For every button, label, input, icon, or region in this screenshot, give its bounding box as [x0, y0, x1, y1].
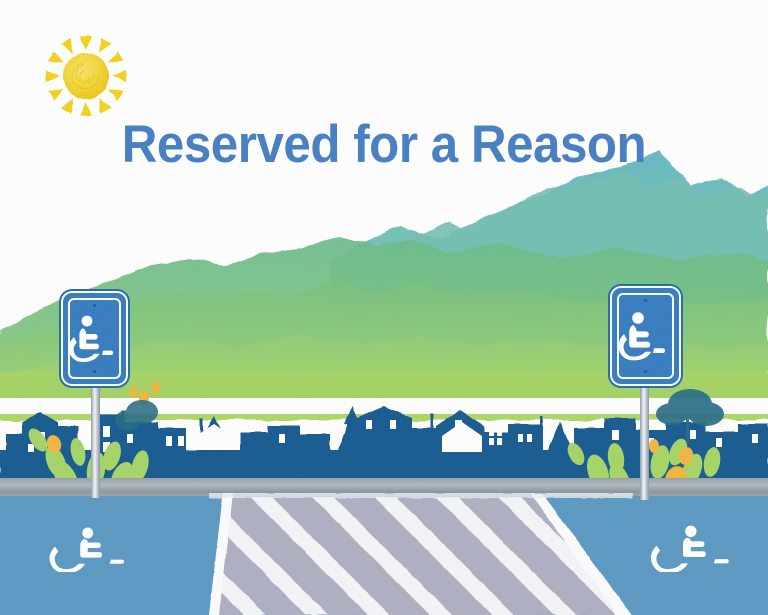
- sign-panel-left[interactable]: [63, 293, 126, 384]
- wheelchair-pavement-marking-icon: [44, 524, 126, 572]
- poster-canvas: Reserved for a Reason: [0, 0, 768, 615]
- tree-right: [656, 389, 724, 442]
- sign-panel-right[interactable]: [612, 288, 679, 384]
- tree-left: [115, 400, 158, 430]
- wheelchair-accessible-sign-icon: [612, 288, 679, 384]
- wheelchair-accessible-sign-icon: [63, 293, 126, 384]
- wheelchair-pavement-marking-icon: [644, 522, 732, 572]
